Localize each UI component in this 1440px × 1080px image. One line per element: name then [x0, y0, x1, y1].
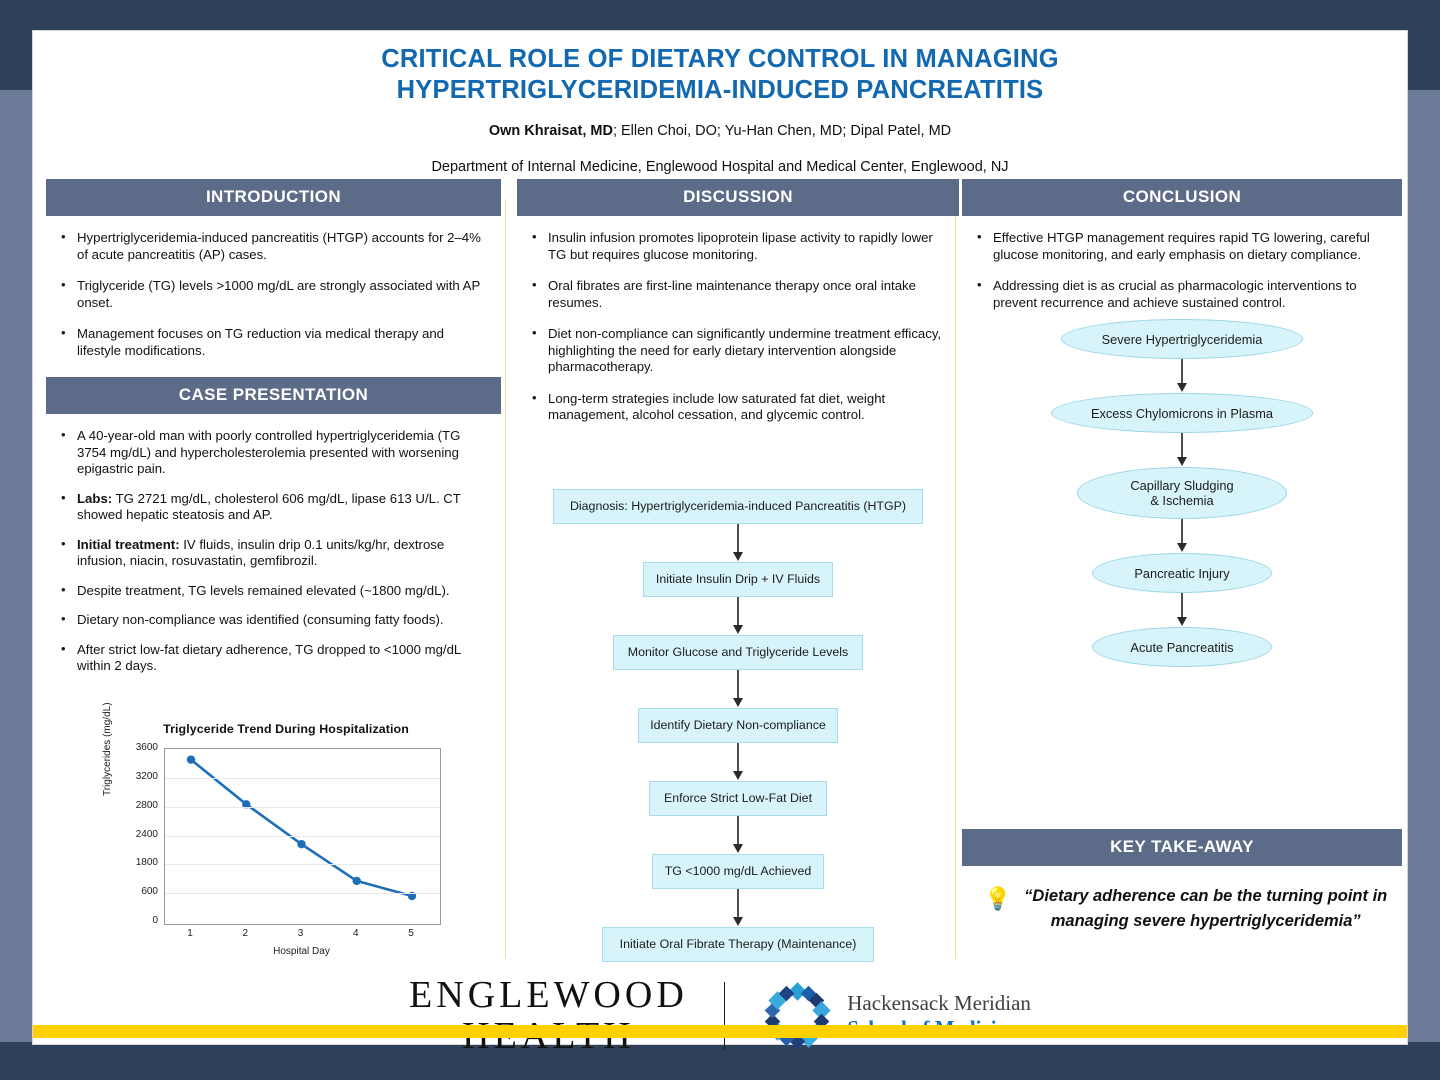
flow-arrow [517, 743, 959, 781]
chart-x-tick-label: 1 [175, 928, 205, 939]
footer-logos: ENGLEWOOD HEALTH Hackensack Meridian Sch… [33, 976, 1407, 1056]
list-item: Long-term strategies include low saturat… [523, 391, 949, 424]
list-item-label: Initial treatment: [77, 537, 180, 552]
pathophys-step-ellipse: Capillary Sludging& Ischemia [1077, 467, 1287, 519]
pathophys-step-ellipse: Severe Hypertriglyceridemia [1061, 319, 1303, 359]
page-title: CRITICAL ROLE OF DIETARY CONTROL IN MANA… [33, 31, 1407, 106]
chart-y-tick-label: 1800 [124, 858, 158, 868]
section-body-conclusion: Effective HTGP management requires rapid… [962, 216, 1402, 311]
pathophys-step-ellipse: Pancreatic Injury [1092, 553, 1272, 593]
column-left: INTRODUCTION Hypertriglyceridemia-induce… [46, 179, 501, 688]
chart-x-axis-label: Hospital Day [164, 946, 439, 957]
chart-y-tick-label: 3200 [124, 772, 158, 782]
flow-step-box: Enforce Strict Low-Fat Diet [649, 781, 827, 816]
chart-y-tick-label: 2400 [124, 830, 158, 840]
chart-x-tick-label: 3 [286, 928, 316, 939]
introduction-bullet-list: Hypertriglyceridemia-induced pancreatiti… [52, 230, 491, 359]
chart-y-tick-label: 2800 [124, 801, 158, 811]
section-header-key-takeaway: KEY TAKE-AWAY [962, 829, 1402, 866]
case-bullet-list: A 40-year-old man with poorly controlled… [52, 428, 491, 675]
list-item: Diet non-compliance can significantly un… [523, 326, 949, 376]
chart-canvas [164, 748, 441, 925]
list-item: Addressing diet is as crucial as pharmac… [968, 278, 1392, 311]
pathophys-step-ellipse: Acute Pancreatitis [1092, 627, 1272, 667]
content-columns: INTRODUCTION Hypertriglyceridemia-induce… [33, 179, 1407, 969]
englewood-health-logo: ENGLEWOOD HEALTH [409, 975, 688, 1057]
flow-step-box: Initiate Oral Fibrate Therapy (Maintenan… [602, 927, 874, 962]
section-body-case-presentation: A 40-year-old man with poorly controlled… [46, 414, 501, 675]
pathophys-arrow [962, 433, 1402, 467]
logo-divider [724, 982, 726, 1050]
list-item-label: Labs: [77, 491, 112, 506]
list-item: Triglyceride (TG) levels >1000 mg/dL are… [52, 278, 491, 311]
flow-step-box: Initiate Insulin Drip + IV Fluids [643, 562, 833, 597]
chart-plot-area: Triglycerides (mg/dL) 360032002800240018… [106, 740, 466, 955]
author-others: ; Ellen Choi, DO; Yu-Han Chen, MD; Dipal… [613, 123, 951, 139]
list-item: Hypertriglyceridemia-induced pancreatiti… [52, 230, 491, 263]
list-item: Management focuses on TG reduction via m… [52, 326, 491, 359]
accent-bar-bottom [33, 1025, 1407, 1038]
title-line-1: CRITICAL ROLE OF DIETARY CONTROL IN MANA… [93, 44, 1347, 75]
section-header-introduction: INTRODUCTION [46, 179, 501, 216]
chart-data-point [187, 755, 195, 763]
flow-arrow [517, 816, 959, 854]
section-header-case-presentation: CASE PRESENTATION [46, 377, 501, 414]
flow-step-box: Identify Dietary Non-compliance [638, 708, 838, 743]
column-middle: DISCUSSION Insulin infusion promotes lip… [517, 179, 959, 439]
list-item: Insulin infusion promotes lipoprotein li… [523, 230, 949, 263]
list-item: Effective HTGP management requires rapid… [968, 230, 1392, 263]
column-right: CONCLUSION Effective HTGP management req… [962, 179, 1402, 326]
chart-y-tick-label: 600 [124, 887, 158, 897]
chart-x-tick-label: 4 [341, 928, 371, 939]
list-item: Labs: TG 2721 mg/dL, cholesterol 606 mg/… [52, 491, 491, 524]
englewood-logo-line-1: ENGLEWOOD [409, 975, 688, 1016]
author-lead: Own Khraisat, MD [489, 123, 613, 139]
list-item: Oral fibrates are first-line maintenance… [523, 278, 949, 311]
triglyceride-chart: Triglyceride Trend During Hospitalizatio… [106, 722, 466, 977]
chart-series-line [191, 760, 412, 896]
chart-y-tick-label: 3600 [124, 743, 158, 753]
chart-gridline [165, 864, 440, 865]
chart-data-point [297, 840, 305, 848]
hackensack-diamond-ring-icon [761, 980, 833, 1052]
treatment-flowchart: Diagnosis: Hypertriglyceridemia-induced … [517, 489, 959, 962]
section-body-discussion: Insulin infusion promotes lipoprotein li… [517, 216, 959, 424]
list-item: Despite treatment, TG levels remained el… [52, 583, 491, 600]
list-item: Dietary non-compliance was identified (c… [52, 612, 491, 629]
author-list: Own Khraisat, MD; Ellen Choi, DO; Yu-Han… [33, 123, 1407, 139]
list-item: After strict low-fat dietary adherence, … [52, 642, 491, 675]
pathophysiology-diagram: Severe HypertriglyceridemiaExcess Chylom… [962, 319, 1402, 667]
hackensack-logo-line-1: Hackensack Meridian [847, 991, 1031, 1016]
pathophys-step-ellipse: Excess Chylomicrons in Plasma [1051, 393, 1313, 433]
flow-arrow [517, 670, 959, 708]
flow-arrow [517, 597, 959, 635]
flow-step-box: Diagnosis: Hypertriglyceridemia-induced … [553, 489, 923, 524]
flow-step-box: TG <1000 mg/dL Achieved [652, 854, 824, 889]
section-header-conclusion: CONCLUSION [962, 179, 1402, 216]
flow-arrow [517, 524, 959, 562]
poster-sheet: CRITICAL ROLE OF DIETARY CONTROL IN MANA… [33, 31, 1407, 1044]
chart-y-tick-label: 0 [124, 916, 158, 926]
affiliation: Department of Internal Medicine, Englewo… [33, 159, 1407, 175]
list-item: Initial treatment: IV fluids, insulin dr… [52, 537, 491, 570]
discussion-bullet-list: Insulin infusion promotes lipoprotein li… [523, 230, 949, 424]
pathophys-arrow [962, 519, 1402, 553]
chart-gridline [165, 893, 440, 894]
chart-y-axis-label: Triglycerides (mg/dL) [102, 702, 113, 796]
conclusion-bullet-list: Effective HTGP management requires rapid… [968, 230, 1392, 311]
flow-arrow [517, 889, 959, 927]
chart-gridline [165, 807, 440, 808]
pathophys-arrow [962, 359, 1402, 393]
chart-gridline [165, 778, 440, 779]
chart-x-tick-label: 2 [230, 928, 260, 939]
key-takeaway-body: 💡 “Dietary adherence can be the turning … [962, 866, 1402, 934]
chart-x-tick-label: 5 [396, 928, 426, 939]
hackensack-meridian-logo: Hackensack Meridian School of Medicine [761, 980, 1031, 1052]
key-takeaway-section: KEY TAKE-AWAY 💡 “Dietary adherence can b… [962, 829, 1402, 934]
chart-title: Triglyceride Trend During Hospitalizatio… [106, 722, 466, 736]
list-item: A 40-year-old man with poorly controlled… [52, 428, 491, 478]
pathophys-arrow [962, 593, 1402, 627]
key-takeaway-quote: “Dietary adherence can be the turning po… [1019, 884, 1392, 934]
chart-gridline [165, 836, 440, 837]
section-header-discussion: DISCUSSION [517, 179, 959, 216]
lightbulb-icon: 💡 [984, 888, 1011, 934]
chart-data-point [353, 877, 361, 885]
section-body-introduction: Hypertriglyceridemia-induced pancreatiti… [46, 216, 501, 359]
column-divider-left [505, 199, 506, 959]
flow-step-box: Monitor Glucose and Triglyceride Levels [613, 635, 863, 670]
title-line-2: HYPERTRIGLYCERIDEMIA-INDUCED PANCREATITI… [93, 75, 1347, 106]
